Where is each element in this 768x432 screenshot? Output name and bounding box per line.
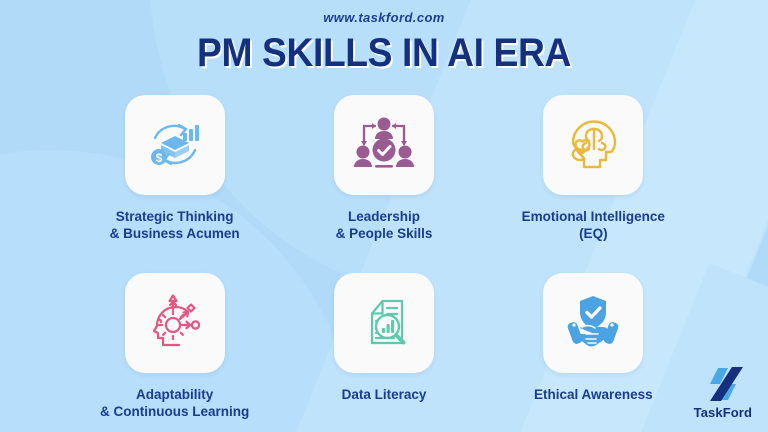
taskford-logo-text: TaskFord (694, 405, 752, 420)
box-growth-cycle-icon: $ (142, 112, 208, 178)
taskford-logo[interactable]: TaskFord (694, 366, 752, 420)
header: www.taskford.com PM SKILLS IN AI ERA (0, 0, 768, 76)
skill-item-emotional-intelligence: Emotional Intelligence (EQ) (489, 95, 698, 273)
team-leadership-check-icon (351, 112, 417, 178)
head-brain-heart-icon (560, 112, 626, 178)
site-url: www.taskford.com (0, 10, 768, 25)
skill-item-adaptability: Adaptability & Continuous Learning (70, 273, 279, 432)
page-title: PM SKILLS IN AI ERA (27, 31, 741, 76)
svg-text:$: $ (155, 151, 162, 165)
icon-card (543, 273, 643, 373)
skill-label: Strategic Thinking & Business Acumen (110, 208, 240, 243)
skill-item-data-literacy: Data Literacy (279, 273, 488, 432)
skills-grid: $ Strategic Thinking & Business Acumen (0, 95, 768, 432)
skill-label: Data Literacy (342, 386, 427, 403)
icon-card (334, 95, 434, 195)
skill-label: Adaptability & Continuous Learning (100, 386, 249, 421)
icon-card (543, 95, 643, 195)
skill-item-leadership: Leadership & People Skills (279, 95, 488, 273)
taskford-logo-mark (701, 366, 745, 402)
icon-card (334, 273, 434, 373)
icon-card (125, 273, 225, 373)
icon-card: $ (125, 95, 225, 195)
skill-label: Leadership & People Skills (336, 208, 433, 243)
skill-item-ethical-awareness: Ethical Awareness (489, 273, 698, 432)
document-magnifier-chart-icon (351, 290, 417, 356)
infographic-canvas: www.taskford.com PM SKILLS IN AI ERA (0, 0, 768, 432)
skill-label: Emotional Intelligence (EQ) (522, 208, 665, 243)
skill-item-strategic-thinking: $ Strategic Thinking & Business Acumen (70, 95, 279, 273)
handshake-shield-check-icon (560, 290, 626, 356)
skill-label: Ethical Awareness (534, 386, 653, 403)
head-gear-adapt-icon (142, 290, 208, 356)
